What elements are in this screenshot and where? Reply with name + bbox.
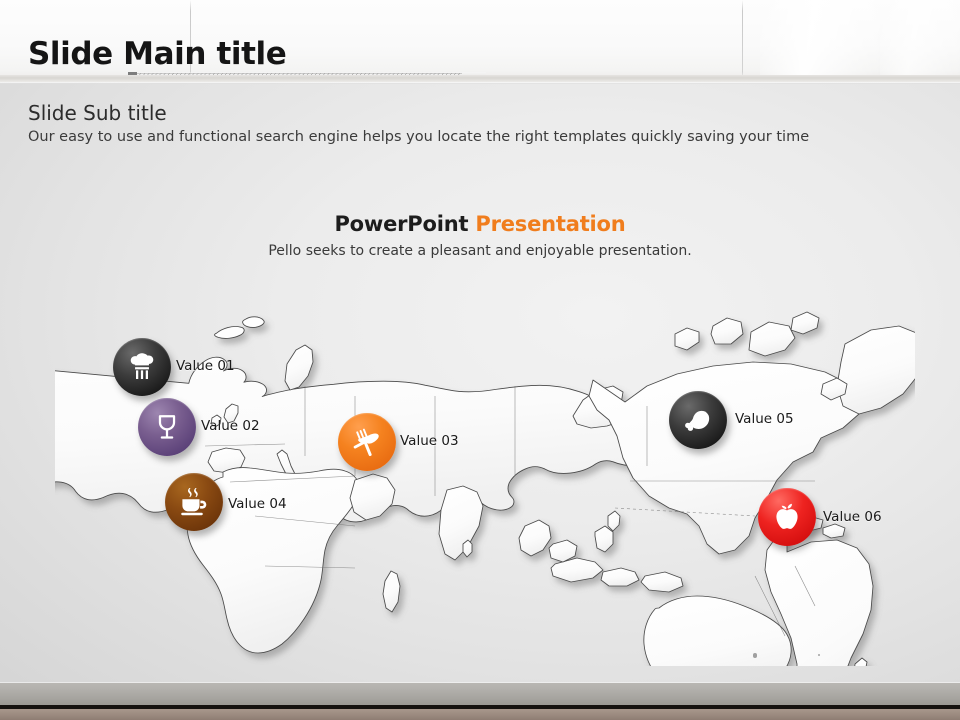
fork-knife-icon — [351, 426, 383, 458]
map-marker-label-value-05: Value 05 — [735, 411, 794, 427]
map-marker-value-03[interactable] — [338, 413, 396, 471]
counter-surface — [0, 683, 960, 705]
section-subheading: Pello seeks to create a pleasant and enj… — [0, 243, 960, 259]
cabinet-base-shadow — [0, 75, 960, 82]
wine-glass-icon — [152, 412, 182, 442]
header-divider — [0, 82, 960, 84]
slide-canvas: Slide Main title Slide Sub title Our eas… — [0, 0, 960, 720]
world-map-svg — [55, 276, 915, 666]
map-marker-label-value-03: Value 03 — [400, 433, 459, 449]
map-marker-label-value-06: Value 06 — [823, 509, 882, 525]
map-marker-value-04[interactable] — [165, 473, 223, 531]
map-marker-value-06[interactable] — [758, 488, 816, 546]
counter-speck — [818, 654, 820, 656]
section-heading-dark: PowerPoint — [334, 212, 468, 236]
apple-icon — [772, 502, 802, 532]
section-heading: PowerPoint Presentation — [0, 212, 960, 236]
map-marker-label-value-02: Value 02 — [201, 418, 260, 434]
section-heading-accent: Presentation — [475, 212, 625, 236]
counter-speck — [753, 653, 757, 658]
coffee-cup-icon — [178, 486, 210, 518]
map-marker-label-value-01: Value 01 — [176, 358, 235, 374]
page-description: Our easy to use and functional search en… — [28, 129, 809, 145]
map-marker-value-02[interactable] — [138, 398, 196, 456]
chef-hat-icon — [127, 352, 157, 382]
drumstick-icon — [682, 404, 714, 436]
cabinet-seam — [742, 0, 743, 78]
map-marker-value-01[interactable] — [113, 338, 171, 396]
map-marker-label-value-04: Value 04 — [228, 496, 287, 512]
world-map — [55, 276, 915, 666]
cabinet-gloss-highlight — [760, 0, 880, 82]
counter-lower-edge — [0, 709, 960, 720]
page-title: Slide Main title — [28, 36, 286, 72]
cabinet-gloss-highlight — [880, 0, 960, 82]
page-subtitle: Slide Sub title — [28, 101, 167, 125]
map-marker-value-05[interactable] — [669, 391, 727, 449]
